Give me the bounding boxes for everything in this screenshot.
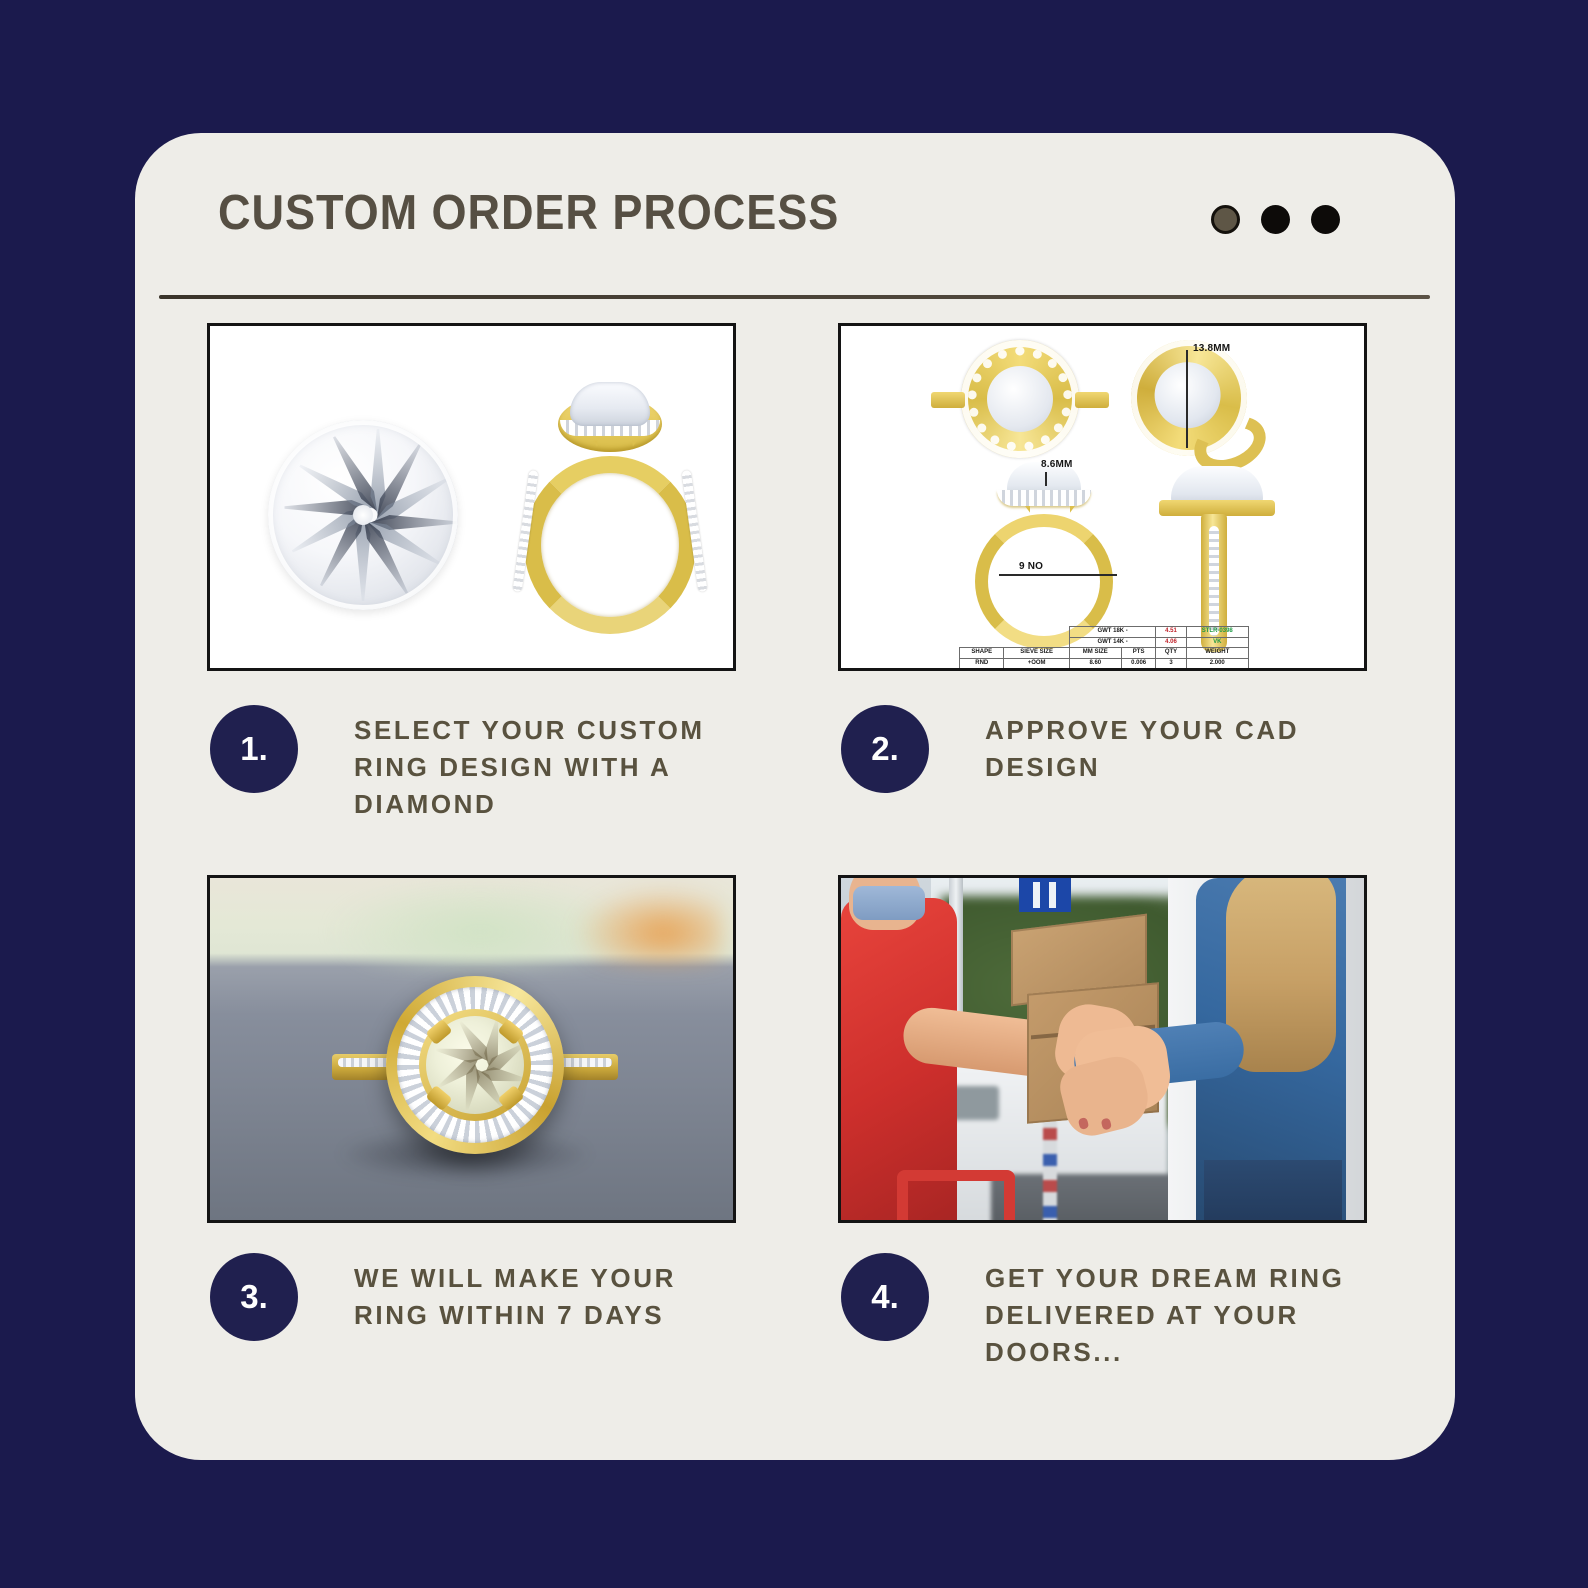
cad-cell: RND [960, 658, 1004, 669]
cad-dimension-tick [1045, 472, 1047, 486]
step-3-image [207, 875, 736, 1223]
step-card-4: 4. GET YOUR DREAM RING DELIVERED AT YOUR… [838, 875, 1383, 1371]
cad-cell: 4.400 [1186, 669, 1248, 672]
step-1-image [207, 323, 736, 671]
custom-order-process-card: CUSTOM ORDER PROCESS [135, 133, 1455, 1460]
cad-cell: 0.004 [1121, 669, 1156, 672]
step-3-caption: 3. WE WILL MAKE YOUR RING WITHIN 7 DAYS [207, 1253, 752, 1341]
step-2-number: 2. [841, 705, 929, 793]
step-1-number: 1. [210, 705, 298, 793]
window-dot-3-icon[interactable] [1311, 205, 1340, 234]
cad-table-row: RND +OOM 8.60 0.006 3 2.000 [960, 658, 1249, 669]
cad-cell: 3 [1156, 658, 1186, 669]
finished-halo-ring-icon [386, 976, 564, 1154]
cad-col-weight: WEIGHT [1186, 648, 1248, 659]
cad-spec-table: GWT 18K - 4.51 STLR-0398 GWT 14K - 4.06 … [959, 626, 1249, 671]
step-card-3: 3. WE WILL MAKE YOUR RING WITHIN 7 DAYS [207, 875, 752, 1371]
cad-col-pts: PTS [1121, 648, 1156, 659]
cad-dimension-stone-label: 8.6MM [1041, 459, 1073, 470]
cad-cell: 0.006 [1121, 658, 1156, 669]
cad-top-view-icon [961, 340, 1079, 458]
round-diamond-icon [268, 420, 458, 610]
cad-gwt14k-value: 4.06 [1156, 637, 1186, 648]
step-1-text: SELECT YOUR CUSTOM RING DESIGN WITH A DI… [354, 712, 752, 823]
cad-cell: 2.000 [1186, 658, 1248, 669]
recipient-jeans [1204, 1160, 1342, 1223]
cad-cell: RND [960, 669, 1004, 672]
cad-dimension-halo-label: 13.8MM [1193, 343, 1230, 354]
cad-cell: 5 [1156, 669, 1186, 672]
step-card-1: 1. SELECT YOUR CUSTOM RING DESIGN WITH A… [207, 323, 752, 823]
step-3-number: 3. [210, 1253, 298, 1341]
cad-cell: +OOM [1004, 658, 1069, 669]
gold-halo-ring-profile-icon [510, 378, 710, 640]
face-mask-icon [853, 886, 925, 920]
step-4-number: 4. [841, 1253, 929, 1341]
hand-trolley-icon [897, 1170, 1015, 1223]
card-header: CUSTOM ORDER PROCESS [135, 133, 1455, 301]
step-3-text: WE WILL MAKE YOUR RING WITHIN 7 DAYS [354, 1260, 752, 1334]
step-2-image: 13.8MM 8.6MM 9 NO GWT 18K - 4.51 STLR-03… [838, 323, 1367, 671]
cad-dimension-ringsize-label: 9 NO [1019, 561, 1043, 572]
cad-style-code: STLR-0398 [1186, 627, 1248, 638]
cad-col-sieve: SIEVE SIZE [1004, 648, 1069, 659]
cad-gwt18k-label: GWT 18K - [1069, 627, 1156, 638]
cad-cell: 8.60 [1069, 658, 1121, 669]
cad-cell: 1.40 [1069, 669, 1121, 672]
cad-gwt18k-value: 4.51 [1156, 627, 1186, 638]
step-4-caption: 4. GET YOUR DREAM RING DELIVERED AT YOUR… [838, 1253, 1383, 1371]
cad-table-row: RND +8Q 1.40 0.004 5 4.400 [960, 669, 1249, 672]
window-dots [1211, 205, 1340, 234]
window-dot-2-icon[interactable] [1261, 205, 1290, 234]
step-2-text: APPROVE YOUR CAD DESIGN [985, 712, 1383, 786]
window-dot-1-icon[interactable] [1211, 205, 1240, 234]
street-sign-icon [1019, 878, 1071, 912]
cad-vendor-code: VK [1186, 637, 1248, 648]
cad-dimension-line-vertical [1186, 350, 1188, 448]
step-4-text: GET YOUR DREAM RING DELIVERED AT YOUR DO… [985, 1260, 1383, 1371]
cad-cell: +8Q [1004, 669, 1069, 672]
cad-front-view-icon [969, 462, 1119, 652]
cad-table-header-row: SHAPE SIEVE SIZE MM SIZE PTS QTY WEIGHT [960, 648, 1249, 659]
step-1-caption: 1. SELECT YOUR CUSTOM RING DESIGN WITH A… [207, 705, 752, 823]
bollard [1043, 1114, 1057, 1223]
cad-gwt14k-label: GWT 14K - [1069, 637, 1156, 648]
cad-col-qty: QTY [1156, 648, 1186, 659]
step-card-2: 13.8MM 8.6MM 9 NO GWT 18K - 4.51 STLR-03… [838, 323, 1383, 823]
step-2-caption: 2. APPROVE YOUR CAD DESIGN [838, 705, 1383, 793]
header-divider [159, 295, 1430, 299]
background-blur-orange [573, 886, 723, 964]
cad-col-shape: SHAPE [960, 648, 1004, 659]
cad-col-mm: MM SIZE [1069, 648, 1121, 659]
steps-grid: 1. SELECT YOUR CUSTOM RING DESIGN WITH A… [135, 323, 1455, 1370]
page-title: CUSTOM ORDER PROCESS [218, 185, 839, 241]
step-4-image [838, 875, 1367, 1223]
cad-dimension-line-horizontal [999, 574, 1117, 576]
